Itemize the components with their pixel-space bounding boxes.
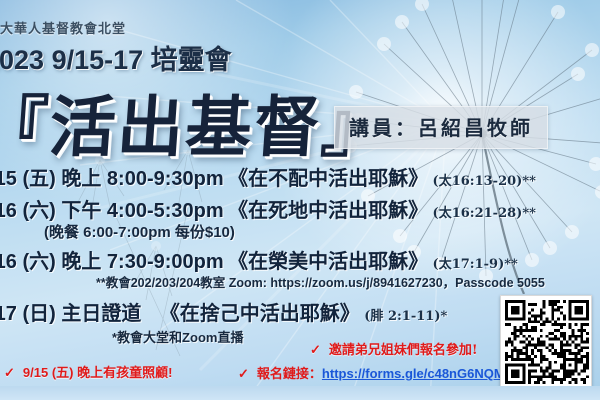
session-time: 9/15 (五) 晚上 8:00-9:30pm — [0, 168, 224, 190]
invitation-note: ✓邀請弟兄姐妹們報名參加! — [310, 339, 478, 358]
session-time: 9/17 (日) 主日證道 — [0, 303, 141, 325]
session-topic: 《在死地中活出耶穌》 — [228, 198, 428, 222]
church-name: 南大華人基督教會北堂 — [0, 18, 126, 37]
session-scripture: (太17:1-9)** — [433, 257, 518, 272]
conference-poster: 南大華人基督教會北堂 2023 9/15-17 培靈會 『活出基督』 講員：呂紹… — [0, 0, 600, 400]
bottom-band — [0, 386, 600, 400]
zoom-meeting-note: **教會202/203/204教室 Zoom: https://zoom.us/… — [96, 272, 545, 291]
broadcast-note: *教會大堂和Zoom直播 — [112, 327, 243, 346]
qr-code[interactable] — [500, 295, 592, 387]
session-time: 9/16 (六) 下午 4:00-5:30pm — [0, 200, 224, 222]
childcare-note-text: 9/15 (五) 晚上有孩童照顧! — [23, 365, 173, 380]
check-icon: ✓ — [238, 366, 249, 381]
session-topic: 《在榮美中活出耶穌》 — [228, 249, 428, 273]
session-row: 9/15 (五) 晚上 8:00-9:30pm 《在不配中活出耶穌》 (太16:… — [0, 162, 536, 191]
speaker-badge: 講員：呂紹昌牧師 — [334, 106, 548, 149]
session-row: 9/16 (六) 晚上 7:30-9:00pm 《在榮美中活出耶穌》 (太17:… — [0, 245, 518, 274]
session-time: 9/16 (六) 晚上 7:30-9:00pm — [0, 251, 224, 273]
invitation-note-text: 邀請弟兄姐妹們報名參加! — [329, 343, 478, 358]
dinner-note: (晚餐 6:00-7:00pm 每份$10) — [44, 221, 235, 242]
check-icon: ✓ — [4, 365, 15, 380]
check-icon: ✓ — [310, 343, 321, 358]
event-title: 2023 9/15-17 培靈會 — [0, 38, 232, 77]
session-topic: 《在不配中活出耶穌》 — [228, 166, 428, 190]
childcare-note: ✓9/15 (五) 晚上有孩童照顧! — [4, 362, 172, 381]
session-topic: 《在捨己中活出耶穌》 — [160, 301, 360, 325]
session-row: 9/17 (日) 主日證道 《在捨己中活出耶穌》 (腓 2:1-11)* — [0, 297, 447, 326]
session-row: 9/16 (六) 下午 4:00-5:30pm 《在死地中活出耶穌》 (太16:… — [0, 194, 536, 223]
signup-label: 報名鏈接： — [257, 366, 322, 381]
speaker-name: 講員：呂紹昌牧師 — [349, 116, 533, 140]
session-scripture: (太16:13-20)** — [433, 174, 536, 189]
qr-code-image — [505, 300, 589, 384]
session-scripture: (太16:21-28)** — [433, 206, 536, 221]
session-scripture: (腓 2:1-11)* — [364, 309, 447, 324]
